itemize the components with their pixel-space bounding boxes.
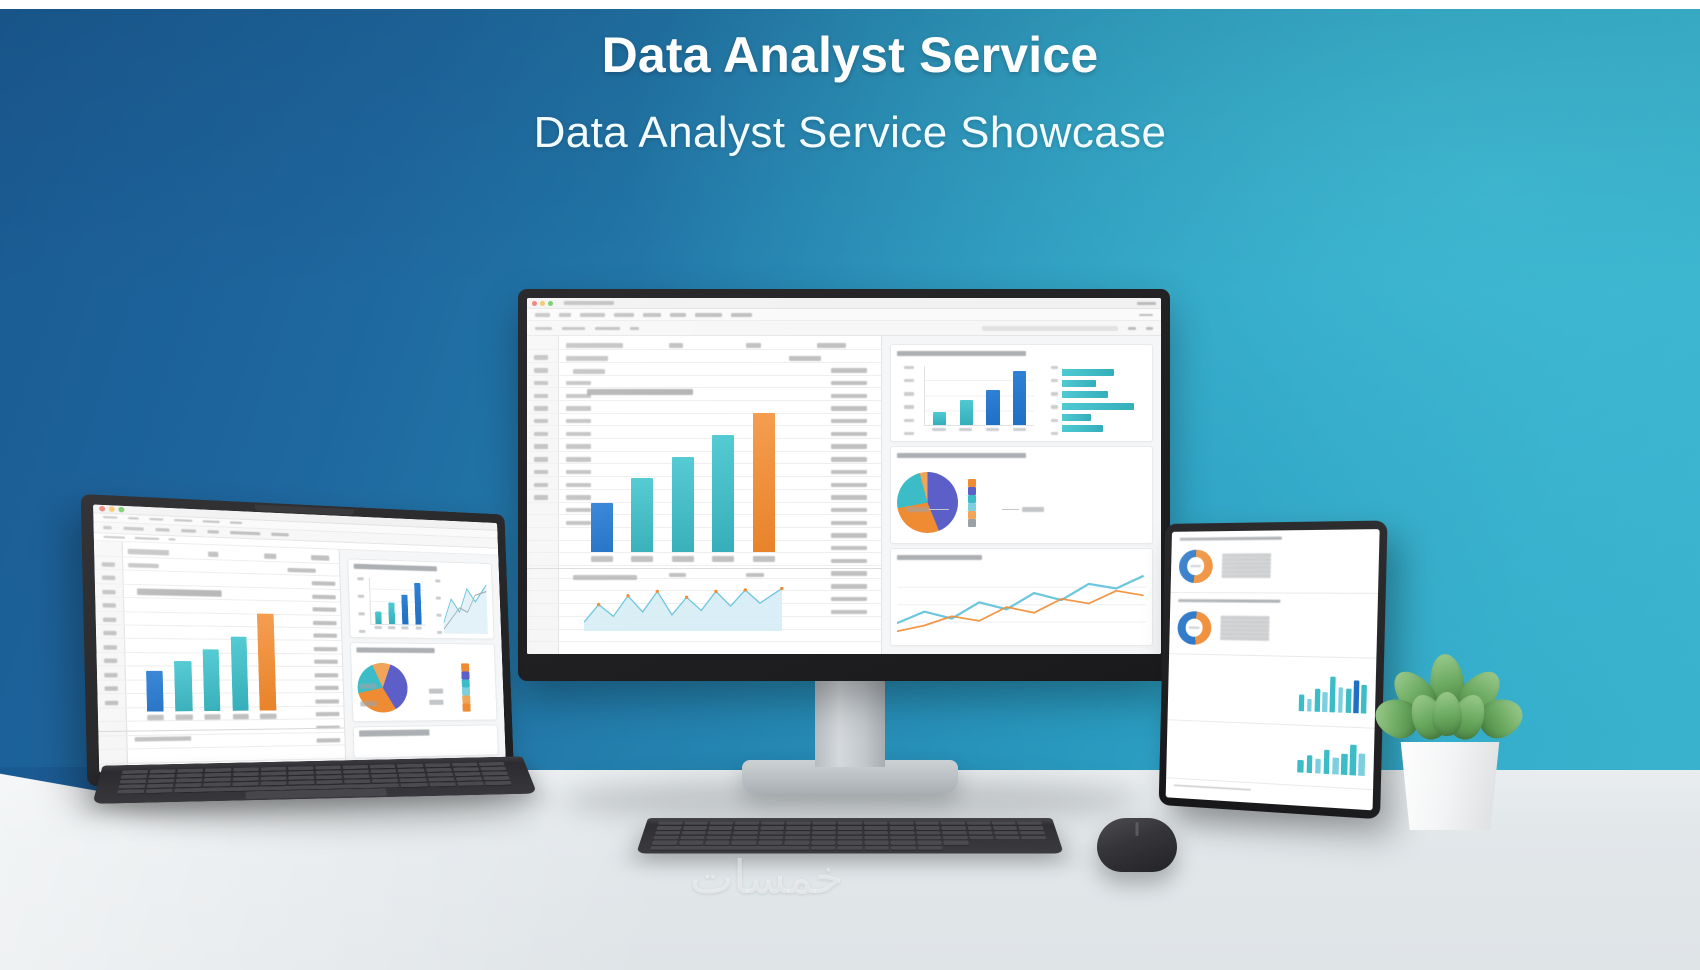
chart-tablet-donut-1[interactable] — [1179, 545, 1371, 586]
close-icon[interactable] — [99, 506, 105, 512]
menu-item-view[interactable] — [580, 313, 605, 316]
card-monitor-region-bars[interactable] — [890, 344, 1154, 442]
menu-item-insert[interactable] — [174, 519, 193, 522]
ribbon-tab-charts[interactable] — [207, 530, 219, 533]
keyboard[interactable] — [636, 818, 1064, 854]
tablet-screen[interactable] — [1166, 529, 1380, 810]
menu-item-data[interactable] — [670, 313, 686, 316]
cell-blur — [128, 563, 159, 568]
menu-item-file[interactable] — [103, 516, 118, 519]
menu-item-file[interactable] — [535, 313, 550, 316]
card-tablet-mid[interactable] — [1168, 654, 1377, 729]
ribbon-tab-layout[interactable] — [595, 327, 621, 330]
chart-laptop-region-bars[interactable] — [354, 577, 489, 634]
mouse[interactable] — [1097, 818, 1177, 872]
cell-blur — [264, 554, 276, 559]
menu-item-tools[interactable] — [695, 313, 722, 316]
chart-monitor-main-bars-xlabels — [584, 556, 782, 562]
title-block: Data Analyst Service Data Analyst Servic… — [0, 30, 1700, 158]
legend-swatch — [968, 519, 976, 527]
legend-swatch — [463, 696, 471, 704]
tablet[interactable] — [1162, 524, 1376, 805]
legend-swatch — [968, 479, 976, 487]
chart-tablet-donut-2[interactable] — [1177, 608, 1369, 651]
laptop-keyboard-keys[interactable] — [117, 762, 512, 794]
card-title-sales-by-country-region — [897, 351, 1027, 356]
chart-tablet-bars-1[interactable] — [1299, 671, 1367, 713]
showcase-stage: Data Analyst Service Data Analyst Servic… — [0, 0, 1700, 970]
monitor-menubar[interactable] — [527, 309, 1161, 321]
cell-blur — [566, 356, 608, 361]
donut-slices — [1177, 611, 1211, 645]
donut-center-label — [1185, 619, 1203, 637]
cell-reference-box[interactable] — [103, 536, 124, 539]
chart-laptop-main-bars[interactable] — [140, 611, 281, 712]
laptop-keyboard-base[interactable] — [92, 756, 537, 803]
card-title-metrics-at-plan — [1180, 537, 1283, 542]
page-subtitle: Data Analyst Service Showcase — [0, 108, 1700, 158]
laptop-sheet-grid[interactable] — [94, 541, 345, 772]
legend-swatch — [462, 688, 470, 696]
menu-item-tools[interactable] — [229, 522, 242, 525]
top-white-strip — [0, 0, 1700, 9]
legend-swatch — [461, 664, 469, 672]
pie-label-d — [430, 700, 444, 705]
card-tablet-donut-2[interactable] — [1169, 593, 1378, 659]
card-title-sales-rate-by-region — [353, 564, 437, 572]
card-title-sales-by-sales-on-date — [356, 647, 435, 653]
maximize-icon[interactable] — [548, 301, 553, 306]
maximize-icon[interactable] — [118, 507, 124, 513]
monitor-ribbon[interactable] — [527, 321, 1161, 336]
pie-leader-left — [929, 509, 949, 510]
menu-item-insert[interactable] — [614, 313, 634, 316]
minimize-icon[interactable] — [109, 506, 115, 512]
monitor-window-controls[interactable] — [1137, 302, 1156, 305]
menu-item-view[interactable] — [149, 518, 163, 521]
card-laptop-region-bars[interactable] — [348, 558, 494, 639]
card-tablet-donut-1[interactable] — [1171, 529, 1380, 594]
laptop-lid — [81, 494, 514, 786]
card-title-footer — [359, 729, 430, 736]
cell-blur — [789, 356, 821, 361]
column-header-revenue — [817, 343, 845, 348]
monitor-titlebar — [527, 298, 1161, 309]
legend-swatch — [463, 704, 471, 712]
gear-icon[interactable] — [1146, 327, 1153, 330]
tablet-bars-row — [1174, 727, 1366, 783]
keyboard-keys[interactable] — [650, 821, 1050, 849]
menu-item-window[interactable] — [731, 313, 752, 316]
monitor-screen[interactable] — [527, 298, 1161, 654]
chevron-down-icon[interactable] — [169, 538, 176, 540]
page-title: Data Analyst Service — [0, 30, 1700, 80]
monitor-charts-pane[interactable] — [882, 336, 1161, 654]
minimize-icon[interactable] — [540, 301, 545, 306]
donut-slices — [1179, 549, 1213, 583]
legend-swatch — [968, 511, 976, 519]
pie-label-left — [907, 507, 929, 512]
tablet-dashboard[interactable] — [1166, 529, 1380, 810]
laptop-screen[interactable] — [93, 504, 506, 772]
menu-item-edit[interactable] — [559, 313, 571, 316]
chart-laptop-line[interactable] — [432, 579, 489, 634]
tablet-legend-1[interactable] — [1221, 554, 1270, 579]
monitor-stand-neck — [815, 681, 885, 767]
monitor-window-title — [564, 301, 614, 305]
monitor-spreadsheet-app[interactable] — [527, 298, 1161, 654]
monitor-chin — [518, 654, 1170, 681]
chart-tablet-line-2[interactable] — [1175, 749, 1291, 755]
ribbon-tab-home[interactable] — [124, 527, 144, 530]
cell-blur — [288, 568, 316, 573]
close-icon[interactable] — [532, 301, 537, 306]
hbar-series — [1183, 788, 1364, 807]
chart-tablet-hbars[interactable] — [1174, 791, 1364, 803]
pie-legend[interactable] — [461, 664, 491, 712]
ribbon-tab-insert[interactable] — [562, 327, 584, 330]
chevron-down-icon[interactable] — [630, 327, 639, 330]
hbar-series — [1062, 366, 1146, 435]
menu-item-format[interactable] — [643, 313, 662, 316]
desktop-monitor[interactable] — [518, 289, 1170, 681]
menu-item-edit[interactable] — [128, 517, 138, 520]
card-title-sales-by-quarterly-score — [897, 453, 1027, 458]
chart-monitor-main-bars[interactable] — [584, 413, 782, 553]
pie-label-right — [1022, 507, 1044, 512]
monitor-spreadsheet-pane[interactable] — [527, 336, 882, 654]
tablet-body — [1159, 520, 1388, 819]
donut-center-label — [1187, 557, 1205, 575]
laptop[interactable] — [104, 512, 524, 812]
chart-tablet-bars-2-series[interactable] — [1298, 739, 1366, 776]
card-laptop-footer[interactable] — [353, 724, 498, 758]
plant-pot — [1394, 742, 1506, 830]
ribbon-tab-review[interactable] — [231, 531, 261, 534]
chart-monitor-trend-right[interactable] — [897, 570, 1146, 639]
cell-blur — [311, 555, 330, 560]
legend-swatch — [462, 672, 470, 680]
card-laptop-pie[interactable] — [350, 642, 497, 722]
y-axis-ticks — [897, 366, 924, 435]
pie-slices — [897, 472, 958, 533]
laptop-sheet-chart-title — [136, 588, 221, 596]
chart-monitor-area[interactable] — [584, 587, 789, 647]
menu-item-format[interactable] — [203, 520, 219, 523]
chart-monitor-pie[interactable] — [897, 468, 1146, 537]
pie-label-a — [360, 683, 377, 688]
pie-label-b — [360, 702, 377, 707]
card-title-trends — [897, 555, 982, 560]
card-monitor-trends[interactable] — [890, 548, 1154, 646]
laptop-spreadsheet-pane[interactable] — [94, 541, 346, 772]
cell-blur — [208, 552, 218, 557]
laptop-app-body — [94, 541, 506, 772]
legend-swatch — [968, 503, 976, 511]
formula-fx-icon — [134, 537, 159, 540]
chart-monitor-hbars[interactable] — [1046, 366, 1146, 435]
search-icon[interactable] — [1139, 314, 1153, 317]
column-header-region — [669, 343, 683, 348]
laptop-charts-pane[interactable] — [339, 550, 505, 766]
pie-leader-right — [1002, 509, 1019, 510]
chart-laptop-pie[interactable] — [356, 660, 491, 717]
desk-plant — [1370, 648, 1530, 830]
laptop-column-header — [128, 549, 169, 555]
ribbon-tab-insert[interactable] — [155, 528, 170, 531]
save-icon[interactable] — [103, 526, 112, 529]
monitor-app-body — [527, 336, 1161, 654]
column-header-units — [746, 343, 760, 348]
monitor-search-input[interactable] — [982, 326, 1118, 331]
laptop-spreadsheet-app[interactable] — [93, 504, 506, 772]
cell-blur — [573, 369, 605, 374]
ribbon-tab-home[interactable] — [535, 327, 552, 330]
legend-swatch — [968, 487, 976, 495]
monitor-sheet-chart-title — [587, 389, 693, 396]
column-header-month — [566, 343, 623, 348]
ribbon-tab-more[interactable] — [271, 533, 289, 536]
pie-legend[interactable] — [968, 479, 1146, 527]
card-monitor-pie[interactable] — [890, 446, 1154, 544]
x-axis-labels — [924, 426, 1034, 436]
bars-area — [924, 366, 1034, 435]
chart-monitor-region-bars[interactable] — [897, 366, 1146, 435]
chart-tablet-line[interactable] — [1176, 687, 1292, 691]
monitor-bezel — [518, 289, 1170, 681]
legend-swatch — [968, 495, 976, 503]
pie-label-c — [429, 689, 443, 694]
monitor-sheet-grid[interactable] — [527, 336, 881, 654]
grid-icon[interactable] — [1128, 327, 1135, 330]
tablet-legend-2[interactable] — [1220, 616, 1269, 641]
bar-series — [924, 366, 1034, 426]
card-title-sales-by-category — [1178, 599, 1280, 603]
tablet-mid-row — [1176, 660, 1368, 721]
ribbon-tab-data[interactable] — [182, 529, 196, 532]
legend-swatch — [462, 680, 470, 688]
